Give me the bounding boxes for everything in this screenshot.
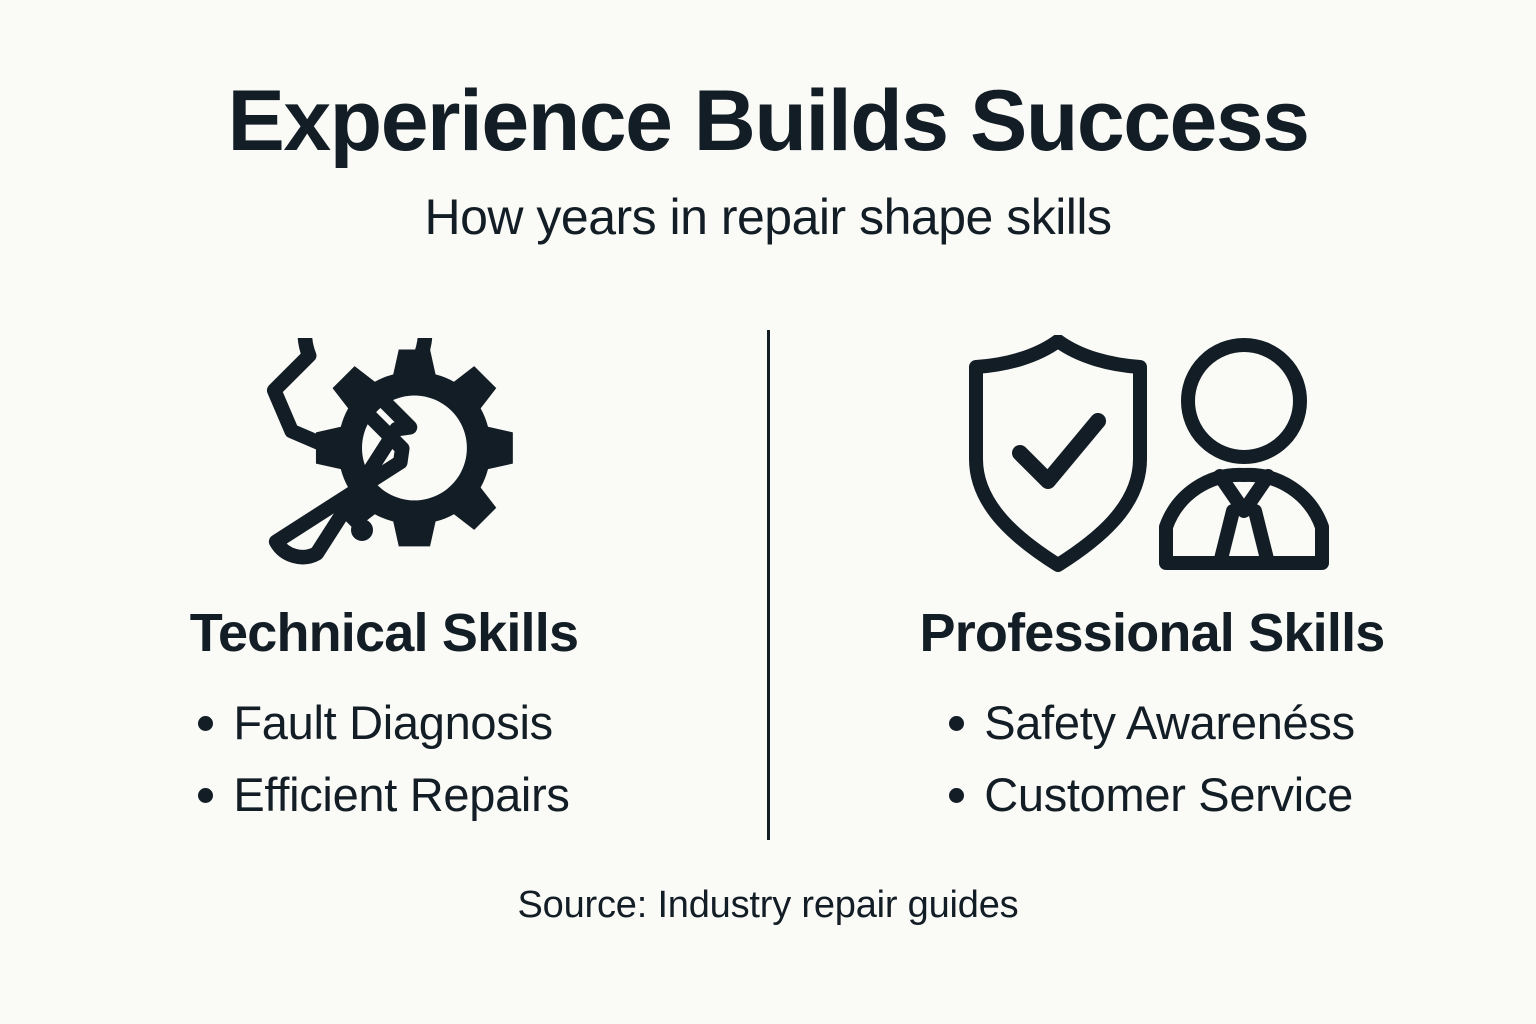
list-item: Efficient Repairs [198,768,569,822]
bullet-label: Efficient Repairs [233,768,569,822]
bullet-label: Customer Service [984,768,1353,822]
bullet-list-professional: Safety Awarenéss Customer Service [949,696,1355,840]
source-note: Source: Industry repair guides [0,884,1536,927]
column-heading-technical: Technical Skills [190,602,578,664]
list-item: Fault Diagnosis [198,696,569,750]
bullet-dot-icon [198,716,213,731]
header: Experience Builds Success How years in r… [0,78,1536,245]
bullet-list-technical: Fault Diagnosis Efficient Repairs [198,696,569,840]
shield-check-person-icon [962,330,1342,580]
column-heading-professional: Professional Skills [920,602,1385,664]
infographic-poster: Experience Builds Success How years in r… [0,0,1536,1024]
bullet-label: Safety Awarenéss [984,696,1355,750]
bullet-dot-icon [949,716,964,731]
bullet-dot-icon [949,788,964,803]
wrench-gear-icon [214,330,554,580]
column-professional-skills: Professional Skills Safety Awarenéss Cus… [768,330,1536,840]
column-technical-skills: Technical Skills Fault Diagnosis Efficie… [0,330,768,840]
bullet-label: Fault Diagnosis [233,696,552,750]
list-item: Customer Service [949,768,1355,822]
page-subtitle: How years in repair shape skills [0,190,1536,245]
bullet-dot-icon [198,788,213,803]
columns-container: Technical Skills Fault Diagnosis Efficie… [0,330,1536,840]
page-title: Experience Builds Success [0,78,1536,166]
list-item: Safety Awarenéss [949,696,1355,750]
